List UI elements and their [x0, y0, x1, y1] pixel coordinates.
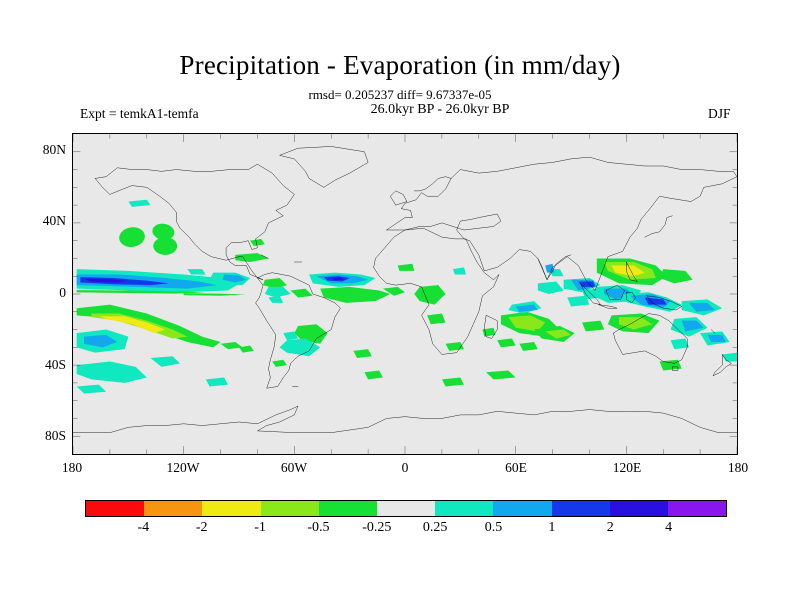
colorbar-tick-label: 0.25	[423, 520, 448, 536]
x-tick-label: 120W	[167, 460, 200, 476]
colorbar-tick-label: 2	[607, 520, 614, 536]
y-tick-label: 80S	[22, 428, 66, 444]
coastline	[387, 157, 737, 290]
anomaly-region	[150, 356, 180, 367]
y-tick-label: 0	[22, 285, 66, 301]
colorbar-band	[610, 501, 668, 516]
anomaly-region	[269, 296, 284, 303]
anomaly-region	[221, 342, 243, 349]
anomaly-region	[722, 353, 737, 362]
colorbar-band	[377, 501, 435, 516]
anomaly-region	[519, 342, 537, 351]
coastline	[95, 164, 294, 280]
anomaly-region	[660, 269, 693, 283]
map-svg	[73, 134, 737, 454]
colorbar[interactable]	[85, 500, 727, 517]
season-label: DJF	[708, 106, 731, 122]
colorbar-tick-label: 1	[548, 520, 555, 536]
x-tick-label: 120E	[613, 460, 642, 476]
period-annotation: 26.0kyr BP - 26.0kyr BP	[270, 102, 610, 118]
colorbar-band	[435, 501, 493, 516]
coastline	[73, 406, 737, 433]
anomaly-region	[250, 239, 265, 246]
figure-canvas: Precipitation - Evaporation (in mm/day) …	[0, 0, 800, 600]
colorbar-band	[552, 501, 610, 516]
colorbar-tick-label: -0.5	[307, 520, 329, 536]
map-plot-area	[72, 133, 738, 455]
anomaly-region	[77, 362, 147, 383]
anomaly-region	[272, 360, 287, 367]
anomaly-region	[453, 267, 466, 274]
y-tick-label: 40N	[22, 213, 66, 229]
anomaly-region	[582, 321, 604, 332]
anomaly-region	[235, 253, 268, 262]
x-tick-label: 60E	[505, 460, 527, 476]
experiment-label: Expt = temkA1-temfa	[80, 106, 199, 122]
anomaly-region	[545, 264, 554, 273]
coastline	[280, 146, 369, 187]
coastline	[390, 191, 407, 205]
colorbar-tick-label: 4	[665, 520, 672, 536]
colorbar-tick-label: -4	[138, 520, 150, 536]
colorbar-tick-label: -0.25	[362, 520, 391, 536]
coastline	[599, 305, 617, 309]
anomaly-region	[128, 200, 150, 207]
anomaly-region	[206, 378, 228, 387]
anomaly-region	[153, 237, 177, 255]
y-tick-label: 40S	[22, 357, 66, 373]
x-tick-label: 60W	[281, 460, 307, 476]
anomaly-region	[364, 370, 382, 379]
x-tick-label: 180	[62, 460, 82, 476]
anomaly-region	[442, 378, 464, 387]
colorbar-band	[493, 501, 551, 516]
anomaly-region	[265, 287, 291, 298]
x-tick-label: 0	[402, 460, 409, 476]
colorbar-tick-label: -2	[196, 520, 208, 536]
anomaly-region	[187, 269, 205, 274]
anomaly-region	[567, 296, 589, 307]
anomaly-region	[427, 314, 445, 325]
anomaly-region	[77, 385, 107, 394]
colorbar-band	[668, 501, 726, 516]
anomaly-region	[538, 282, 564, 294]
anomaly-region	[398, 264, 415, 271]
anomaly-region	[497, 338, 515, 347]
colorbar-tick-label: -1	[254, 520, 266, 536]
anomaly-region	[118, 225, 147, 249]
colorbar-band	[319, 501, 377, 516]
anomaly-region	[671, 338, 689, 349]
anomaly-data-layer	[77, 200, 737, 394]
colorbar-band	[261, 501, 319, 516]
anomaly-region	[184, 293, 247, 295]
anomaly-region	[446, 342, 464, 351]
anomaly-region	[320, 287, 390, 303]
chart-title: Precipitation - Evaporation (in mm/day)	[0, 50, 800, 81]
colorbar-band	[86, 501, 144, 516]
colorbar-tick-label: 0.5	[485, 520, 503, 536]
x-tick-label: 180	[728, 460, 748, 476]
y-tick-label: 80N	[22, 142, 66, 158]
coastline	[645, 216, 673, 237]
statistics-annotation: rmsd= 0.205237 diff= 9.67337e-05	[0, 87, 800, 103]
anomaly-region	[291, 289, 313, 298]
anomaly-region	[486, 370, 516, 379]
anomaly-region	[353, 349, 371, 358]
colorbar-band	[202, 501, 260, 516]
colorbar-band	[144, 501, 202, 516]
